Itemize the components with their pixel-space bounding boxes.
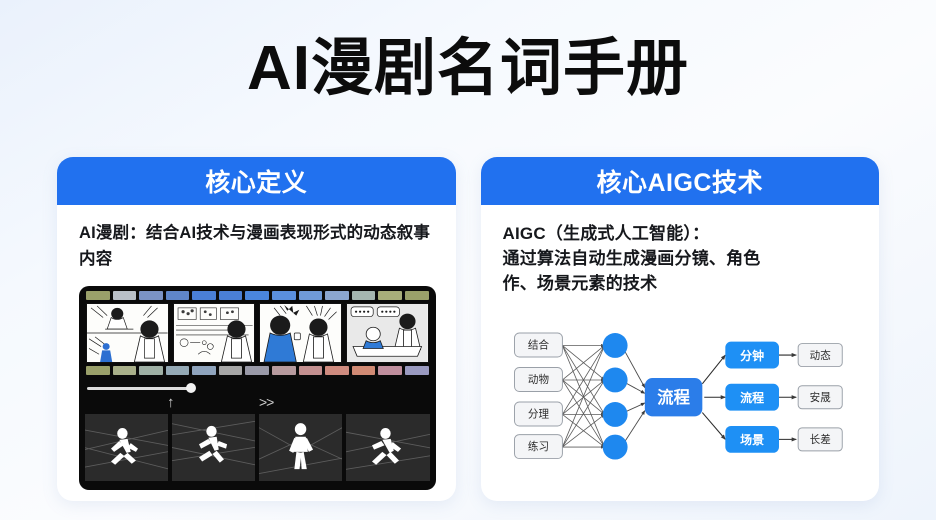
perforation-square — [192, 291, 216, 300]
hidden-node-4 — [602, 435, 627, 460]
card-header-core-definition: 核心定义 — [57, 157, 456, 205]
center-node: 流程 — [644, 379, 702, 417]
tail-node-label: 动态 — [809, 349, 831, 362]
perforation-square — [219, 291, 243, 300]
perforation-square — [245, 366, 269, 375]
input-node-4: 练习 — [514, 435, 562, 459]
input-node-1: 结合 — [514, 333, 562, 357]
output-node-label: 分钟 — [740, 348, 764, 363]
perforation-square — [219, 366, 243, 375]
page-title: AI漫剧名词手册 — [0, 36, 936, 101]
card-core-definition: 核心定义 AI漫剧：结合AI技术与漫画表现形式的动态叙事内容 — [57, 157, 456, 501]
card-core-aigc-tech: 核心AIGC技术 AIGC（生成式人工智能）： 通过算法自动生成漫画分镜、角色 … — [481, 157, 880, 501]
perforation-square — [405, 366, 429, 375]
hidden-node-1 — [602, 333, 627, 358]
center-node-label: 流程 — [657, 388, 690, 407]
perforation-square — [299, 366, 323, 375]
perforation-square — [352, 291, 376, 300]
comic-panel-3 — [259, 303, 342, 363]
neural-network-diagram: 结合 动物 分理 练习 — [503, 306, 860, 487]
definition-text: AI漫剧：结合AI技术与漫画表现形式的动态叙事内容 — [79, 221, 436, 272]
perforation-square — [378, 291, 402, 300]
perforation-square — [192, 366, 216, 375]
comic-panel-1 — [86, 303, 169, 363]
timeline-slider[interactable] — [79, 379, 436, 397]
card-header-core-aigc-tech: 核心AIGC技术 — [481, 157, 880, 205]
input-node-label: 结合 — [527, 339, 549, 352]
tail-node-label: 安晟 — [809, 392, 831, 405]
motion-panel-4 — [346, 414, 429, 481]
tail-node-3: 长差 — [798, 428, 842, 451]
filmstrip — [79, 286, 436, 379]
perforation-square — [166, 366, 190, 375]
output-node-label: 流程 — [740, 390, 764, 405]
motion-panel-2 — [172, 414, 255, 481]
aigc-text-line2: 通过算法自动生成漫画分镜、角色 — [503, 246, 860, 271]
perforation-square — [272, 366, 296, 375]
output-node-label: 场景 — [740, 434, 764, 448]
perforation-square — [113, 291, 137, 300]
tail-node-label: 长差 — [809, 434, 830, 447]
perforation-square — [86, 291, 110, 300]
aigc-text-line3: 作、场景元素的技术 — [503, 271, 860, 296]
input-node-label: 分理 — [527, 409, 549, 421]
slider-knob[interactable] — [186, 383, 196, 393]
input-node-label: 动物 — [527, 373, 548, 386]
perforation-square — [86, 366, 110, 375]
perforation-square — [272, 291, 296, 300]
perforation-square — [245, 291, 269, 300]
hidden-node-2 — [602, 368, 627, 393]
perforation-square — [352, 366, 376, 375]
motion-panels — [79, 414, 436, 490]
motion-panel-3 — [259, 414, 342, 481]
perforation-square — [139, 366, 163, 375]
perforation-square — [113, 366, 137, 375]
perforation-square — [378, 366, 402, 375]
perforation-square — [405, 291, 429, 300]
playback-controls-row: ↑ >> — [79, 397, 436, 414]
comic-panels — [86, 303, 429, 363]
comic-panel-4 — [346, 303, 429, 363]
output-node-1: 分钟 — [725, 342, 779, 369]
card-body-core-aigc-tech: AIGC（生成式人工智能）： 通过算法自动生成漫画分镜、角色 作、场景元素的技术 — [481, 205, 880, 501]
filmstrip-perforations-bottom — [84, 366, 431, 375]
input-node-3: 分理 — [514, 402, 562, 426]
card-body-core-definition: AI漫剧：结合AI技术与漫画表现形式的动态叙事内容 — [57, 205, 456, 501]
input-node-label: 练习 — [527, 440, 548, 453]
perforation-square — [166, 291, 190, 300]
perforation-square — [139, 291, 163, 300]
motion-panel-1 — [85, 414, 168, 481]
slider-track[interactable] — [87, 387, 192, 390]
filmstrip-perforations-top — [84, 291, 431, 300]
hidden-node-3 — [602, 402, 627, 427]
input-node-2: 动物 — [514, 368, 562, 392]
perforation-square — [325, 366, 349, 375]
comic-filmstrip-illustration: ↑ >> — [79, 286, 436, 490]
tail-node-1: 动态 — [798, 344, 842, 367]
comic-panel-2 — [173, 303, 256, 363]
cards-container: 核心定义 AI漫剧：结合AI技术与漫画表现形式的动态叙事内容 — [57, 157, 879, 501]
output-node-3: 场景 — [725, 426, 779, 453]
tail-node-2: 安晟 — [798, 386, 842, 409]
fast-forward-icon[interactable]: >> — [259, 394, 273, 410]
perforation-square — [325, 291, 349, 300]
aigc-text-line1: AIGC（生成式人工智能）： — [503, 221, 860, 246]
arrow-up-icon[interactable]: ↑ — [167, 394, 175, 411]
perforation-square — [299, 291, 323, 300]
output-node-2: 流程 — [725, 384, 779, 411]
